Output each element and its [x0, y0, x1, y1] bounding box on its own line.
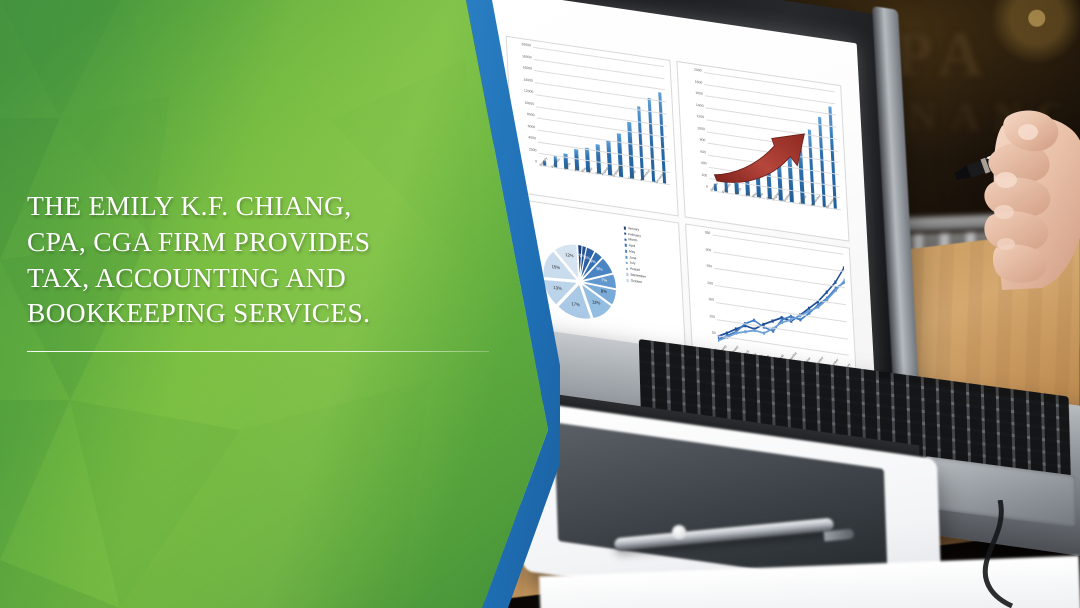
line-marker — [717, 339, 719, 342]
line-marker — [744, 330, 746, 333]
axis-tick: April — [574, 166, 580, 173]
axis-tick: 600 — [700, 150, 706, 154]
axis-tick: 1400 — [696, 104, 704, 109]
axis-tick: 1000 — [697, 127, 705, 132]
axis-tick: April — [745, 191, 751, 198]
legend-label: June — [629, 256, 636, 260]
line-marker — [790, 315, 792, 318]
axis-tick: 1200 — [697, 115, 705, 120]
line-marker — [763, 331, 765, 334]
axis-tick: 400 — [701, 162, 707, 166]
legend-label: January — [628, 227, 640, 232]
legend-swatch — [625, 250, 628, 253]
axis-tick: 1600 — [695, 92, 703, 97]
legend-label: May — [629, 250, 635, 254]
legend-swatch — [624, 238, 627, 241]
axis-tick: 350 — [705, 231, 711, 235]
pie-percent-label: 7% — [601, 277, 608, 283]
pie-percent-label: 8% — [601, 288, 608, 294]
title-underline-rule — [27, 351, 489, 352]
legend-swatch — [626, 279, 629, 282]
legend-swatch — [626, 273, 629, 276]
headline-line-1: THE EMILY K.F. CHIANG, — [27, 188, 447, 224]
headline-line-4: BOOKKEEPING SERVICES. — [27, 295, 447, 331]
pie-percent-label: 4% — [589, 258, 596, 264]
axis-tick: 1800 — [695, 80, 703, 85]
axis-tick: 300 — [706, 248, 712, 252]
legend-label: October — [631, 279, 643, 284]
pen-on-desk-clip — [672, 525, 686, 539]
axis-tick: 200 — [702, 174, 708, 178]
chart-bar — [828, 107, 837, 209]
chart-panel-bar-top-right[interactable]: 2000180016001400120010008006004002000 — [676, 61, 849, 242]
line-marker — [843, 278, 845, 281]
line-marker — [790, 318, 792, 321]
line-marker — [826, 290, 828, 293]
line-marker — [817, 305, 819, 308]
legend-swatch — [624, 226, 627, 229]
page-title: THE EMILY K.F. CHIANG,CPA, CGA FIRM PROV… — [27, 188, 447, 331]
legend-label: March — [628, 238, 637, 243]
axis-tick: 0 — [706, 186, 708, 190]
legend-swatch — [626, 267, 629, 270]
line-marker — [834, 280, 836, 283]
axis-tick: 100 — [709, 315, 715, 319]
legend-swatch — [625, 256, 628, 259]
banner-stage: CPA FINANCE 2000018000160001400012000100… — [0, 0, 1080, 608]
line-marker — [799, 318, 801, 321]
axis-tick: 150 — [708, 298, 714, 302]
legend-label: July — [630, 262, 636, 266]
hand-holding-pen — [950, 80, 1080, 290]
chart3-legend: JanuaryFebruaryMarchAprilMayJuneJulyAugu… — [624, 226, 679, 290]
axis-tick: 800 — [700, 139, 706, 143]
pie-percent-label: 8% — [596, 266, 603, 272]
headline-line-3: TAX, ACCOUNTING AND — [27, 260, 447, 296]
line-marker — [781, 321, 783, 324]
axis-tick: 50 — [712, 332, 716, 336]
axis-tick: 2000 — [694, 69, 702, 74]
line-marker — [835, 288, 837, 291]
line-marker — [772, 319, 774, 322]
line-marker — [843, 266, 845, 269]
line-marker — [753, 329, 755, 332]
axis-tick: 200 — [707, 281, 713, 285]
legend-swatch — [624, 232, 627, 235]
axis-tick: 250 — [706, 265, 712, 269]
headline-line-2: CPA, CGA FIRM PROVIDES — [27, 224, 447, 260]
line-marker — [735, 331, 737, 334]
cable — [960, 500, 1030, 608]
line-marker — [808, 309, 810, 312]
line-marker — [753, 319, 755, 322]
legend-swatch — [626, 262, 629, 265]
legend-swatch — [625, 244, 628, 247]
legend-label: August — [630, 268, 640, 273]
legend-label: April — [629, 244, 636, 248]
